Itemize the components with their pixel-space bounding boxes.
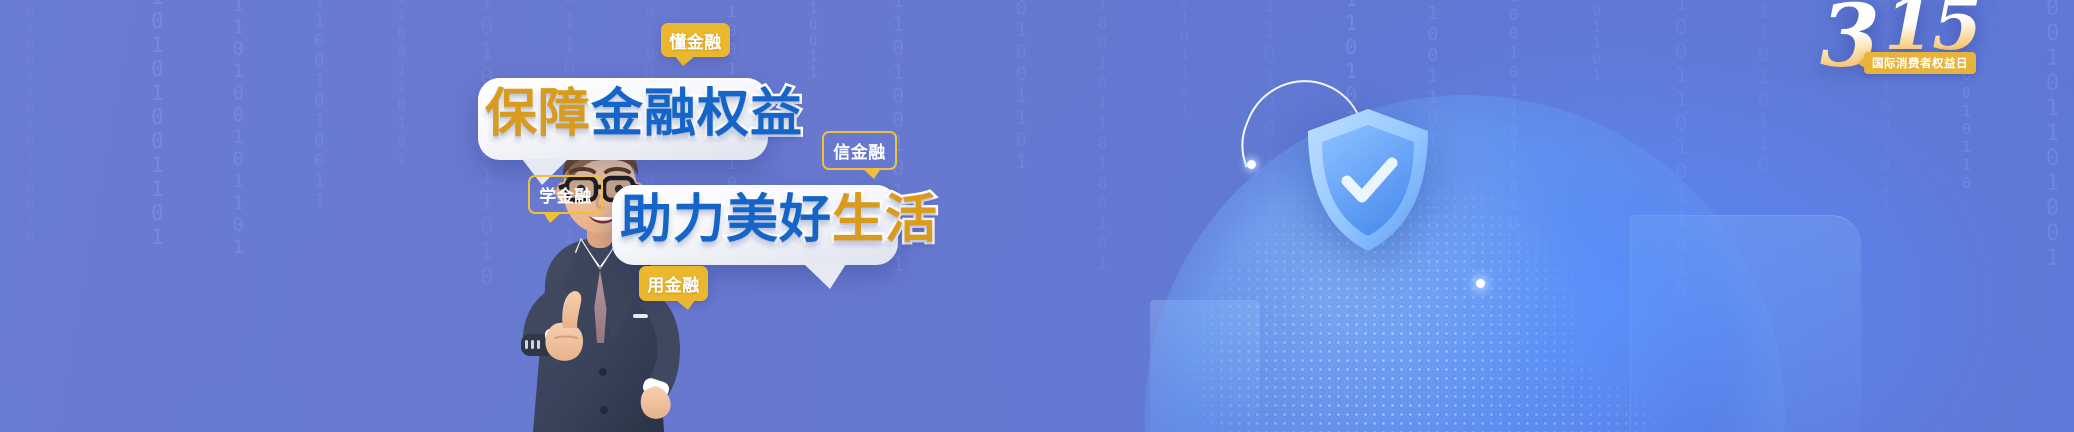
logo-number-15: 15	[1884, 0, 1980, 60]
logo-315: 3 15 国际消费者权益日	[1810, 0, 2050, 94]
binary-stream: 0110101001101	[147, 0, 167, 249]
binary-stream: 10010110100101101	[229, 0, 247, 258]
binary-stream: 0110100101101	[1589, 0, 1602, 84]
tag-xin-label: 信金融	[833, 138, 886, 163]
headline-2-blue: 助力美好	[620, 191, 832, 249]
tag-xue-label: 学金融	[539, 182, 592, 207]
tag-xin-jinrong: 信金融	[822, 131, 897, 170]
binary-stream: 1010011010110010	[23, 0, 36, 246]
binary-stream: 010110100110101	[394, 0, 408, 168]
binary-stream: 1011001010011	[311, 0, 327, 211]
shield-check-icon	[1302, 105, 1434, 255]
swoosh-end-dot	[1247, 160, 1256, 169]
headline-1-blue: 金融权益	[591, 85, 803, 143]
binary-stream: 0101101001101	[1012, 0, 1030, 173]
headline-2: 助力美好生活	[620, 194, 938, 246]
orbit-node-dot	[1476, 279, 1485, 288]
headline-1-gold: 保障	[485, 85, 591, 143]
headline-1: 保障金融权益	[485, 88, 803, 140]
logo-badge: 国际消费者权益日	[1864, 52, 1976, 74]
headline-2-gold: 生活	[832, 191, 938, 249]
binary-stream: 1010010110100101	[1094, 0, 1110, 274]
binary-stream: 110100101101	[1177, 0, 1191, 117]
tag-dong-jinrong: 懂金融	[661, 23, 730, 57]
binary-stream: 1001011010011	[806, 0, 819, 81]
tag-xue-jinrong: 学金融	[528, 175, 603, 214]
tag-yong-jinrong: 用金融	[639, 266, 708, 301]
tag-dong-label: 懂金融	[669, 28, 722, 53]
promo-banner: 1010011010110010011010100110110010110100…	[0, 0, 2074, 432]
tag-yong-label: 用金融	[647, 271, 700, 296]
